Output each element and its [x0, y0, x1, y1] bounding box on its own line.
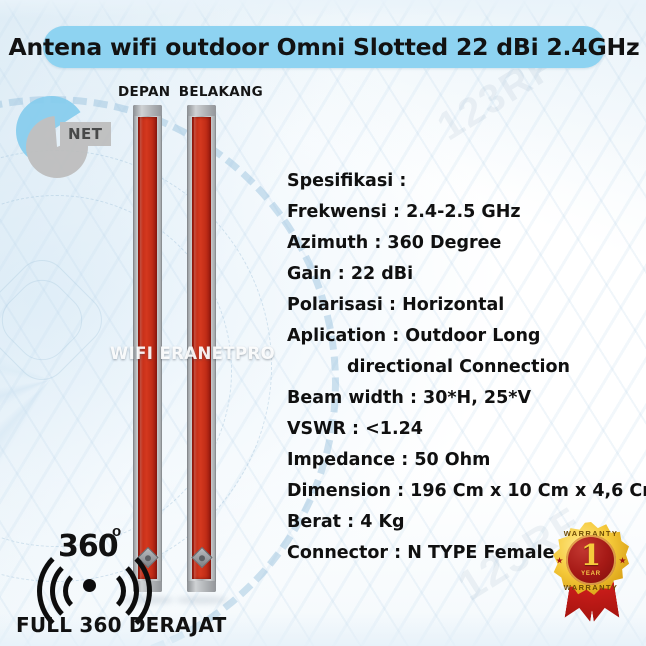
spec-line-polarization: Polarisasi : Horizontal: [287, 290, 632, 321]
title-banner: Antena wifi outdoor Omni Slotted 22 dBi …: [43, 26, 605, 68]
specification-list: Spesifikasi : Frekwensi : 2.4-2.5 GHz Az…: [287, 166, 632, 569]
antenna-label-back: BELAKANG: [179, 84, 263, 100]
warranty-badge: WARRANTY WARRANTY 1 YEAR: [548, 520, 634, 620]
spec-line-title: Spesifikasi :: [287, 166, 632, 197]
spec-line-application: Aplication : Outdoor Long: [287, 321, 632, 352]
coverage-360-badge: 360 o: [20, 527, 190, 627]
antenna-label-front: DEPAN: [118, 84, 170, 100]
badge-360-degree-symbol: o: [112, 523, 121, 540]
product-ad-canvas: 123RF 123RF NET Antena wifi outdoor Omni…: [0, 0, 646, 646]
page-title: Antena wifi outdoor Omni Slotted 22 dBi …: [9, 33, 640, 61]
wifi-signal-icon: [30, 549, 148, 621]
warranty-inner-disc: 1 YEAR: [566, 535, 616, 585]
spec-line-impedance: Impedance : 50 Ohm: [287, 445, 632, 476]
spec-line-application-cont: directional Connection: [287, 352, 632, 383]
brand-logo: NET: [14, 96, 110, 180]
spec-line-vswr: VSWR : <1.24: [287, 414, 632, 445]
logo-net-label: NET: [60, 122, 111, 146]
warranty-years-number: 1: [566, 541, 616, 570]
antenna-front-cap-top: [133, 105, 162, 116]
antenna-back-cap-bottom: [187, 581, 216, 592]
spec-line-dimension: Dimension : 196 Cm x 10 Cm x 4,6 Cm: [287, 476, 632, 507]
spec-line-gain: Gain : 22 dBi: [287, 259, 632, 290]
wifi-center-dot-icon: [83, 579, 96, 592]
spec-line-azimuth: Azimuth : 360 Degree: [287, 228, 632, 259]
warranty-unit-label: YEAR: [566, 571, 616, 577]
antenna-view-labels: DEPAN BELAKANG: [118, 84, 263, 100]
badge-360-caption: FULL 360 DERAJAT: [16, 613, 226, 637]
background-top-strip: [0, 0, 646, 18]
warranty-rosette-icon: WARRANTY WARRANTY 1 YEAR: [553, 522, 629, 598]
spec-line-beam-width: Beam width : 30*H, 25*V: [287, 383, 632, 414]
spec-line-frequency: Frekwensi : 2.4-2.5 GHz: [287, 197, 632, 228]
antenna-back-cap-top: [187, 105, 216, 116]
product-watermark-text: WIFI ERANETPRO: [110, 344, 275, 363]
